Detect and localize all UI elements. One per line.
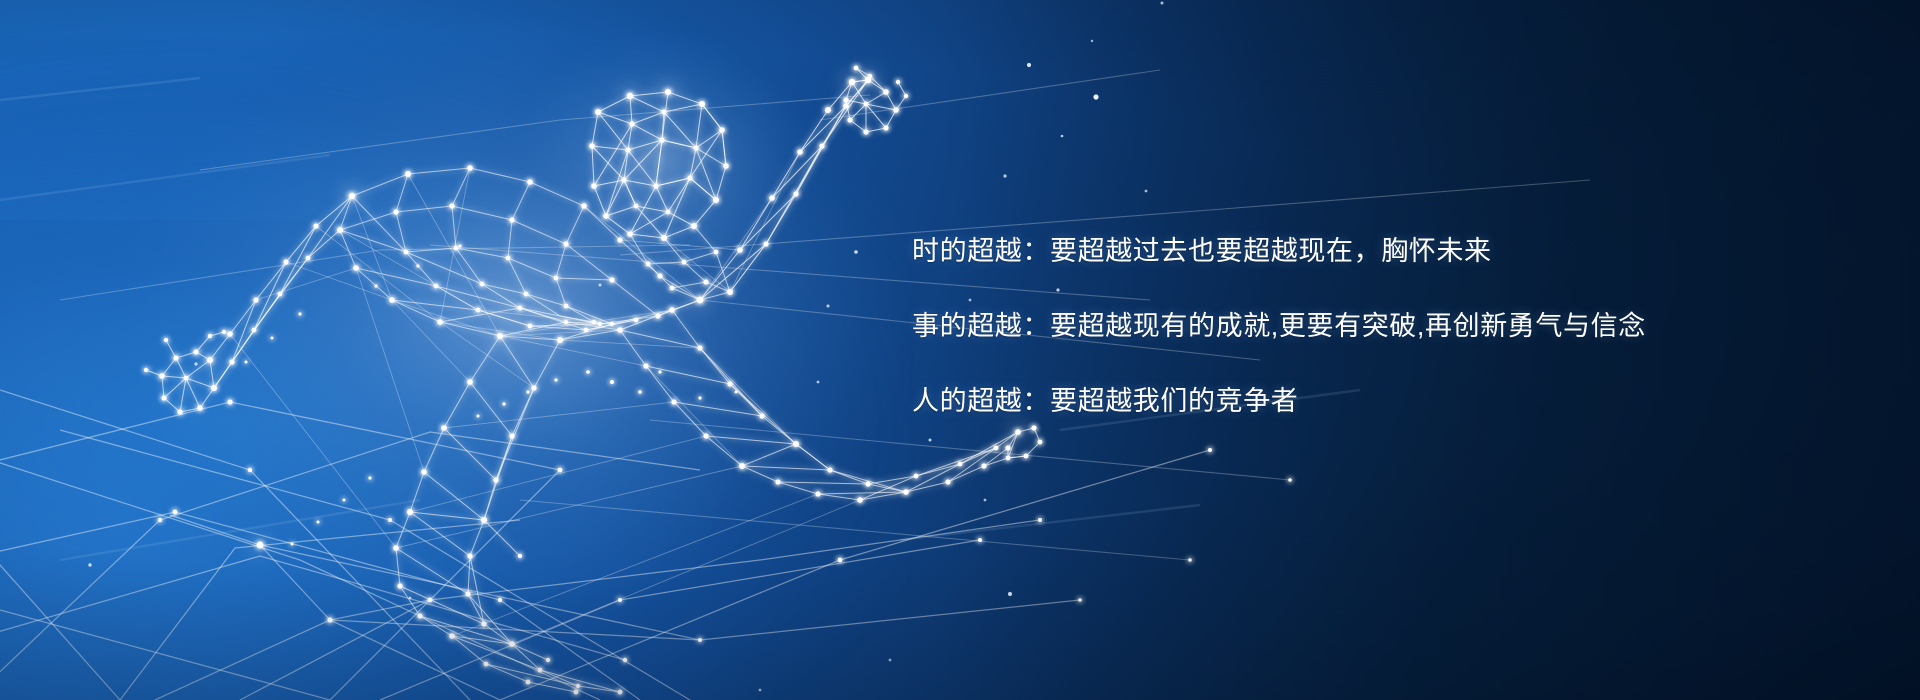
slogan-line-time: 时的超越：要超越过去也要超越现在，胸怀未来 — [912, 238, 1872, 265]
hero-banner: 时的超越：要超越过去也要超越现在，胸怀未来 事的超越：要超越现有的成就,更要有突… — [0, 0, 1920, 700]
slogan-line-matter: 事的超越：要超越现有的成就,更要有突破,再创新勇气与信念 — [912, 313, 1872, 340]
slogan-line-people: 人的超越：要超越我们的竞争者 — [912, 388, 1872, 415]
slogan-text-block: 时的超越：要超越过去也要超越现在，胸怀未来 事的超越：要超越现有的成就,更要有突… — [912, 238, 1872, 415]
